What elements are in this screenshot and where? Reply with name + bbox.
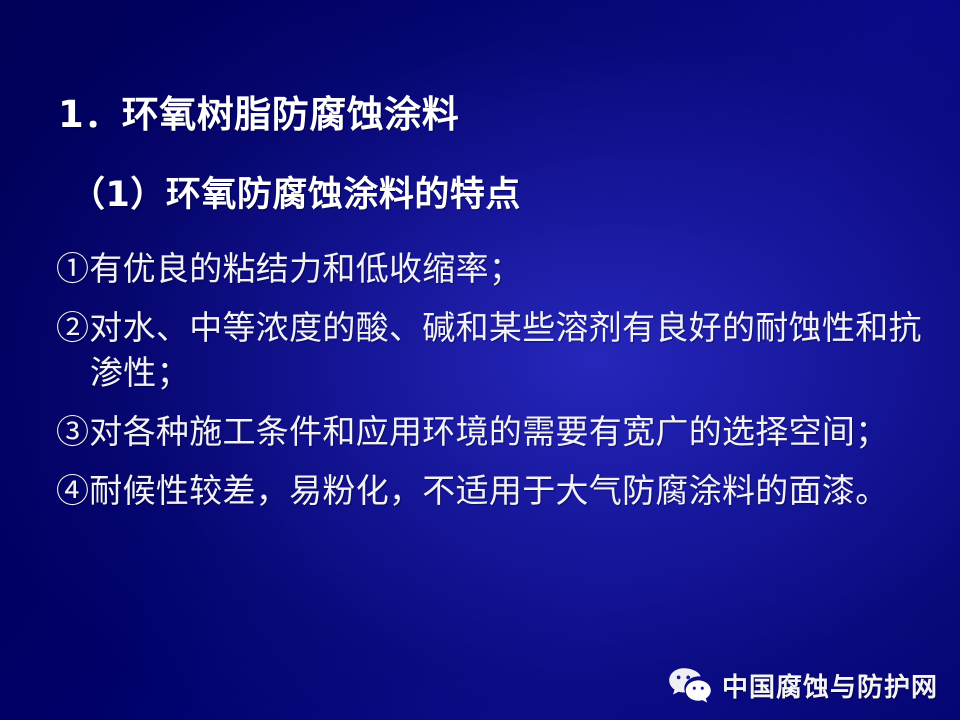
slide-canvas: 1．环氧树脂防腐蚀涂料 （1）环氧防腐蚀涂料的特点 ①有优良的粘结力和低收缩率；… — [0, 0, 960, 720]
wechat-icon — [668, 666, 712, 704]
list-item: ①有优良的粘结力和低收缩率； — [56, 246, 928, 291]
subtitle-block: （1）环氧防腐蚀涂料的特点 — [58, 176, 938, 215]
feature-list: ①有优良的粘结力和低收缩率； ②对水、中等浓度的酸、碱和某些溶剂有良好的耐蚀性和… — [56, 246, 928, 513]
list-item: ④耐候性较差，易粉化，不适用于大气防腐涂料的面漆。 — [56, 468, 928, 513]
watermark: 中国腐蚀与防护网 — [668, 666, 938, 704]
page-title: 1．环氧树脂防腐蚀涂料 — [58, 94, 918, 135]
list-item: ③对各种施工条件和应用环境的需要有宽广的选择空间； — [56, 409, 928, 454]
title-block: 1．环氧树脂防腐蚀涂料 — [58, 94, 918, 135]
watermark-label: 中国腐蚀与防护网 — [722, 667, 938, 704]
page-subtitle: （1）环氧防腐蚀涂料的特点 — [58, 176, 938, 215]
list-item: ②对水、中等浓度的酸、碱和某些溶剂有良好的耐蚀性和抗渗性； — [56, 305, 928, 395]
